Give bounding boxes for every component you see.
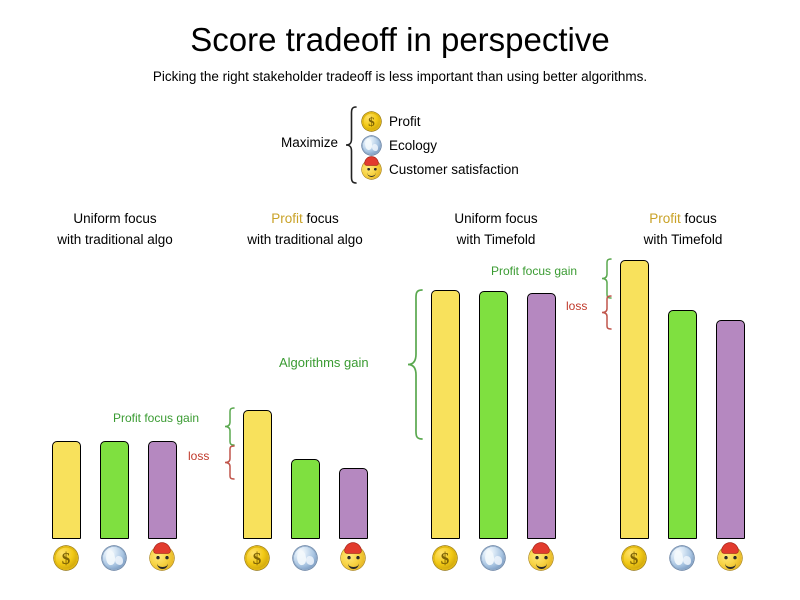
- legend-item-label: Customer satisfaction: [389, 162, 519, 177]
- bar-g3-ecology: [479, 291, 508, 539]
- axis-icon-ecology: [670, 546, 694, 570]
- axis-icon-profit: [245, 546, 269, 570]
- legend-item-label: Ecology: [389, 138, 437, 153]
- bar-g2-ecology: [291, 459, 320, 539]
- brace-g2-loss-icon: [222, 445, 236, 481]
- globe-icon: [481, 546, 505, 570]
- axis-icon-ecology: [102, 546, 126, 570]
- money-bag-icon: [362, 112, 381, 131]
- brace-g2-gain-icon: [222, 407, 236, 447]
- globe-icon: [102, 546, 126, 570]
- globe-icon: [293, 546, 317, 570]
- axis-icon-profit: [433, 546, 457, 570]
- axis-icon-customer: [529, 546, 553, 570]
- bar-g3-customer: [527, 293, 556, 539]
- legend-item-customer: Customer satisfaction: [362, 157, 519, 181]
- column-header-line1: Profit focus: [583, 208, 783, 229]
- column-header-line2: with Timefold: [583, 229, 783, 250]
- axis-icon-customer: [150, 546, 174, 570]
- page-title: Score tradeoff in perspective: [0, 20, 800, 60]
- money-bag-icon: [433, 546, 457, 570]
- annotation-g2-profit-focus-gain: Profit focus gain: [113, 411, 199, 425]
- smiley-icon: [150, 546, 174, 570]
- globe-icon: [362, 136, 381, 155]
- smiley-icon: [362, 160, 381, 179]
- annotation-g2-loss: loss: [188, 449, 209, 463]
- column-header-profit-traditional: Profit focus with traditional algo: [205, 208, 405, 250]
- bar-g1-profit: [52, 441, 81, 539]
- legend: Maximize Profit Ecology Customer satisfa…: [258, 106, 558, 184]
- column-header-uniform-traditional: Uniform focus with traditional algo: [15, 208, 215, 250]
- brace-g4-loss-icon: [599, 295, 613, 331]
- axis-icon-profit: [54, 546, 78, 570]
- bar-g4-profit: [620, 260, 649, 539]
- axis-icon-ecology: [293, 546, 317, 570]
- bar-g3-profit: [431, 290, 460, 539]
- column-header-profit-timefold: Profit focus with Timefold: [583, 208, 783, 250]
- money-bag-icon: [622, 546, 646, 570]
- brace-g4-gain-icon: [599, 258, 613, 300]
- column-header-line2: with Timefold: [396, 229, 596, 250]
- smiley-icon: [529, 546, 553, 570]
- bar-g2-profit: [243, 410, 272, 539]
- chart-canvas: Score tradeoff in perspective Picking th…: [0, 0, 800, 600]
- bar-g1-customer: [148, 441, 177, 539]
- axis-icon-profit: [622, 546, 646, 570]
- brace-algorithms-gain-icon: [405, 288, 425, 443]
- annotation-algorithms-gain: Algorithms gain: [279, 356, 369, 370]
- legend-item-ecology: Ecology: [362, 133, 437, 157]
- annotation-g4-loss: loss: [566, 299, 587, 313]
- bar-g4-ecology: [668, 310, 697, 539]
- axis-icon-ecology: [481, 546, 505, 570]
- bar-g1-ecology: [100, 441, 129, 539]
- legend-brace-icon: [342, 106, 358, 184]
- column-header-line1: Uniform focus: [396, 208, 596, 229]
- legend-item-label: Profit: [389, 114, 421, 129]
- money-bag-icon: [54, 546, 78, 570]
- money-bag-icon: [245, 546, 269, 570]
- column-header-line1: Uniform focus: [15, 208, 215, 229]
- globe-icon: [670, 546, 694, 570]
- column-header-line1: Profit focus: [205, 208, 405, 229]
- bar-g4-customer: [716, 320, 745, 539]
- column-header-uniform-timefold: Uniform focus with Timefold: [396, 208, 596, 250]
- bar-g2-customer: [339, 468, 368, 539]
- column-header-line2: with traditional algo: [205, 229, 405, 250]
- legend-label: Maximize: [258, 135, 338, 150]
- smiley-icon: [341, 546, 365, 570]
- smiley-icon: [718, 546, 742, 570]
- annotation-g4-profit-focus-gain: Profit focus gain: [491, 264, 577, 278]
- page-subtitle: Picking the right stakeholder tradeoff i…: [0, 68, 800, 86]
- column-header-line2: with traditional algo: [15, 229, 215, 250]
- legend-item-profit: Profit: [362, 109, 421, 133]
- axis-icon-customer: [341, 546, 365, 570]
- axis-icon-customer: [718, 546, 742, 570]
